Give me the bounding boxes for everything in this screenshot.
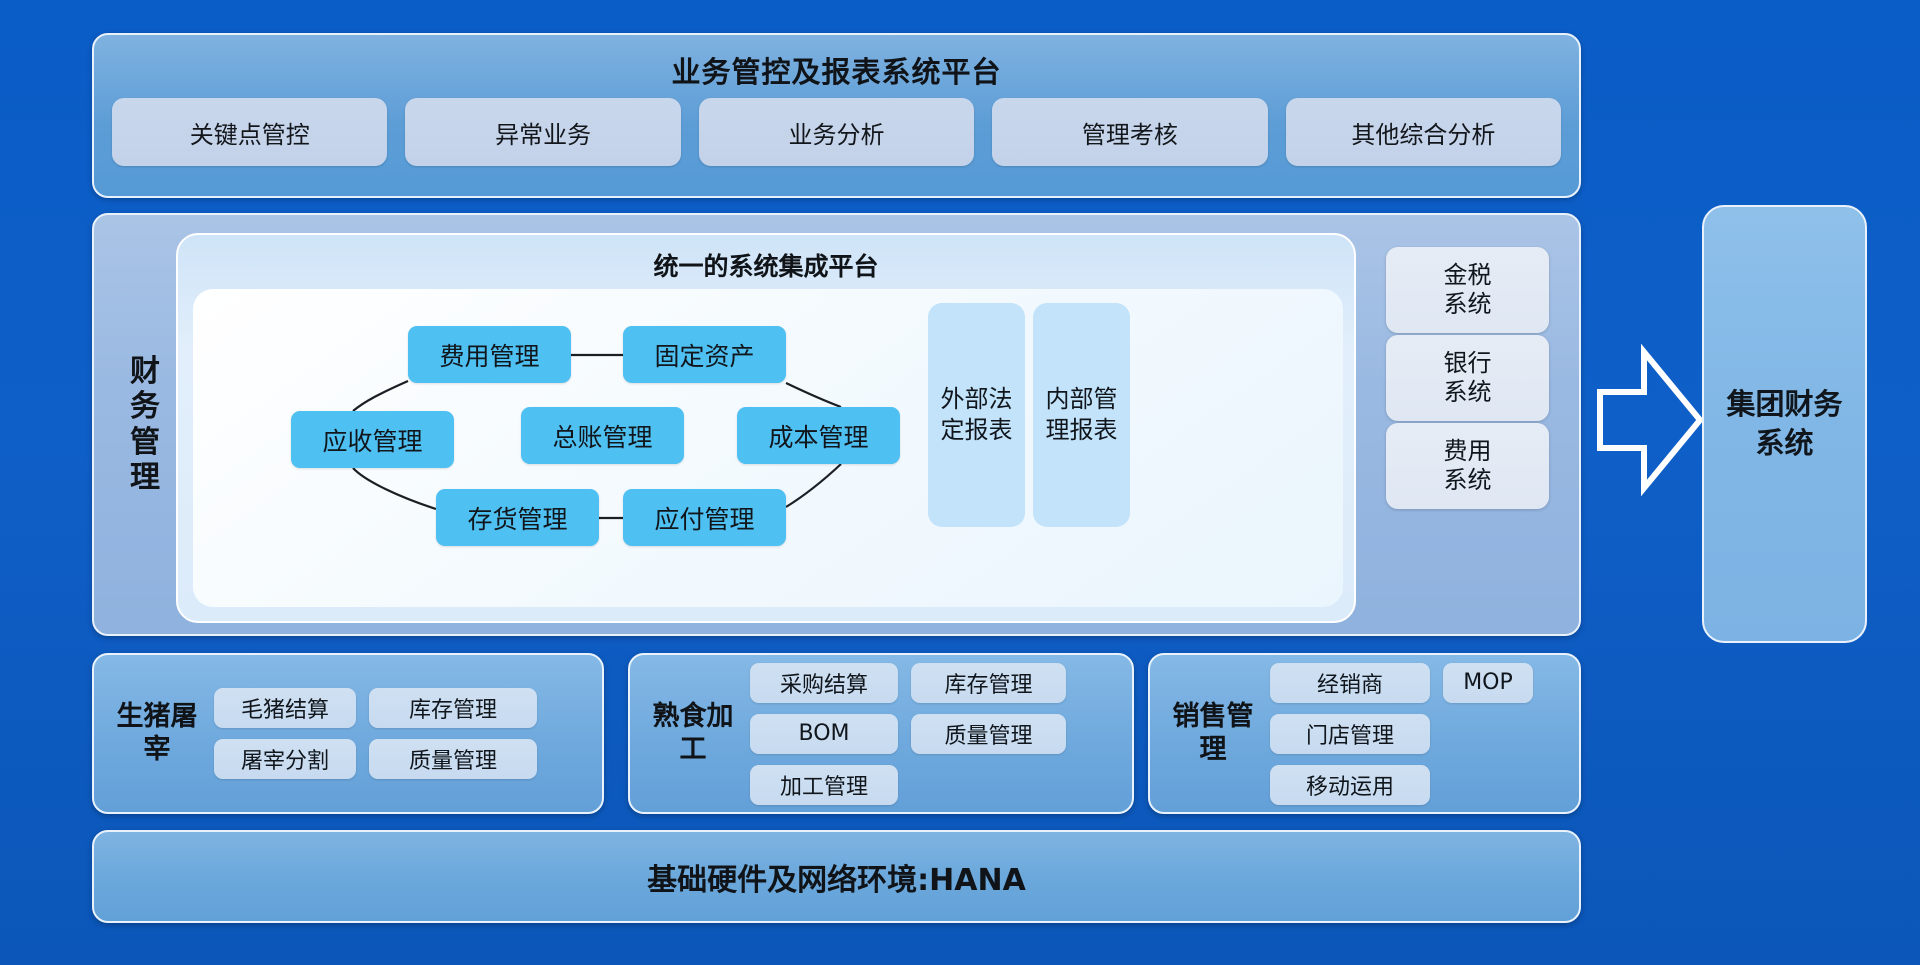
external-system-0[interactable]: 金税系统	[1386, 247, 1549, 333]
group-finance-system-text-line-0: 集团财务	[1726, 385, 1842, 424]
module-chip-food-1-1[interactable]: 质量管理	[911, 714, 1066, 754]
top-banner-item-list: 关键点管控异常业务业务分析管理考核其他综合分析	[112, 98, 1561, 166]
infrastructure-bar: 基础硬件及网络环境:HANA	[92, 830, 1581, 923]
external-system-2[interactable]: 费用系统	[1386, 423, 1549, 509]
finance-label-char-line-2: 管	[130, 425, 160, 460]
finance-label-char-line-0: 财	[130, 354, 160, 389]
finance-label-char-line-3: 理	[130, 460, 160, 495]
external-system-0-text-line-1: 系统	[1444, 290, 1492, 319]
module-chip-sales-1-0[interactable]: MOP	[1443, 663, 1533, 703]
report-column-0[interactable]: 外部法定报表	[928, 303, 1025, 527]
report-column-0-text-line-1: 定报表	[941, 415, 1013, 446]
module-chip-food-0-0[interactable]: 采购结算	[750, 663, 898, 703]
finance-management-label: 财务管理	[108, 215, 182, 634]
business-control-platform-panel: 业务管控及报表系统平台 关键点管控异常业务业务分析管理考核其他综合分析	[92, 33, 1581, 198]
unified-integration-platform-panel: 统一的系统集成平台 费用管理固定资产应收管理总账管理成	[176, 233, 1356, 623]
external-system-1[interactable]: 银行系统	[1386, 335, 1549, 421]
module-chip-food-0-2[interactable]: 加工管理	[750, 765, 898, 805]
module-chip-sales-0-0[interactable]: 经销商	[1270, 663, 1430, 703]
module-group-food-columns: 采购结算BOM加工管理库存管理质量管理	[750, 663, 1066, 805]
module-chip-sales-0-2[interactable]: 移动运用	[1270, 765, 1430, 805]
module-group-sales-columns: 经销商门店管理移动运用MOP	[1270, 663, 1533, 805]
module-group-pig-column-0: 毛猪结算屠宰分割	[214, 688, 356, 779]
module-chip-pig-1-0[interactable]: 库存管理	[369, 688, 537, 728]
module-group-food-label-line-line-0: 熟食	[653, 701, 707, 732]
external-system-1-text-line-0: 银行	[1444, 349, 1492, 378]
finance-module-4[interactable]: 成本管理	[737, 407, 900, 464]
module-group-sales-column-0: 经销商门店管理移动运用	[1270, 663, 1430, 805]
module-group-pig-label: 生猪屠宰	[108, 701, 206, 766]
report-column-1[interactable]: 内部管理报表	[1033, 303, 1130, 527]
external-system-2-text-line-1: 系统	[1444, 466, 1492, 495]
report-column-1-text-line-0: 内部管	[1046, 384, 1118, 415]
module-chip-pig-1-1[interactable]: 质量管理	[369, 739, 537, 779]
finance-module-1[interactable]: 固定资产	[623, 326, 786, 383]
module-chip-sales-0-1[interactable]: 门店管理	[1270, 714, 1430, 754]
module-group-sales-label: 销售管理	[1164, 701, 1262, 766]
module-chip-food-0-1[interactable]: BOM	[750, 714, 898, 754]
module-group-food-column-0: 采购结算BOM加工管理	[750, 663, 898, 805]
top-banner-item-1[interactable]: 异常业务	[405, 98, 680, 166]
module-group-sales-label-line-line-0: 销售	[1173, 701, 1227, 732]
report-column-1-text-line-1: 理报表	[1046, 415, 1118, 446]
module-group-sales-column-1: MOP	[1443, 663, 1533, 805]
finance-label-char-line-1: 务	[130, 389, 160, 424]
module-chip-pig-0-1[interactable]: 屠宰分割	[214, 739, 356, 779]
external-system-0-text-line-0: 金税	[1444, 261, 1492, 290]
module-group-pig-slaughter: 生猪屠宰毛猪结算屠宰分割库存管理质量管理	[92, 653, 604, 814]
module-chip-pig-0-0[interactable]: 毛猪结算	[214, 688, 356, 728]
module-chip-food-1-0[interactable]: 库存管理	[911, 663, 1066, 703]
group-finance-system-panel: 集团财务系统	[1702, 205, 1867, 643]
finance-management-panel: 财务管理 统一的系统集成平台	[92, 213, 1581, 636]
integration-platform-title: 统一的系统集成平台	[178, 247, 1354, 283]
module-group-cooked-food-processing: 熟食加工采购结算BOM加工管理库存管理质量管理	[628, 653, 1134, 814]
module-group-food-label: 熟食加工	[644, 701, 742, 766]
external-system-1-text-line-1: 系统	[1444, 378, 1492, 407]
finance-module-0[interactable]: 费用管理	[408, 326, 571, 383]
finance-module-6[interactable]: 应付管理	[623, 489, 786, 546]
external-system-2-text-line-0: 费用	[1444, 437, 1492, 466]
module-group-sales-management: 销售管理经销商门店管理移动运用MOP	[1148, 653, 1581, 814]
group-finance-system-text-line-1: 系统	[1755, 424, 1813, 463]
module-group-pig-label-line-line-0: 生猪	[117, 701, 171, 732]
report-column-0-text-line-0: 外部法	[941, 384, 1013, 415]
top-banner-item-4[interactable]: 其他综合分析	[1286, 98, 1561, 166]
finance-module-5[interactable]: 存货管理	[436, 489, 599, 546]
top-banner-item-2[interactable]: 业务分析	[699, 98, 974, 166]
top-banner-item-3[interactable]: 管理考核	[992, 98, 1267, 166]
integration-platform-inner: 费用管理固定资产应收管理总账管理成本管理存货管理应付管理外部法定报表内部管理报表	[193, 289, 1343, 607]
diagram-canvas: 业务管控及报表系统平台 关键点管控异常业务业务分析管理考核其他综合分析 财务管理…	[0, 0, 1920, 965]
flow-arrow	[1596, 340, 1706, 500]
module-group-pig-columns: 毛猪结算屠宰分割库存管理质量管理	[214, 688, 537, 779]
top-banner-title: 业务管控及报表系统平台	[94, 49, 1579, 91]
module-group-pig-column-1: 库存管理质量管理	[369, 688, 537, 779]
finance-module-2[interactable]: 应收管理	[291, 411, 454, 468]
finance-module-3[interactable]: 总账管理	[521, 407, 684, 464]
top-banner-item-0[interactable]: 关键点管控	[112, 98, 387, 166]
module-group-food-column-1: 库存管理质量管理	[911, 663, 1066, 805]
